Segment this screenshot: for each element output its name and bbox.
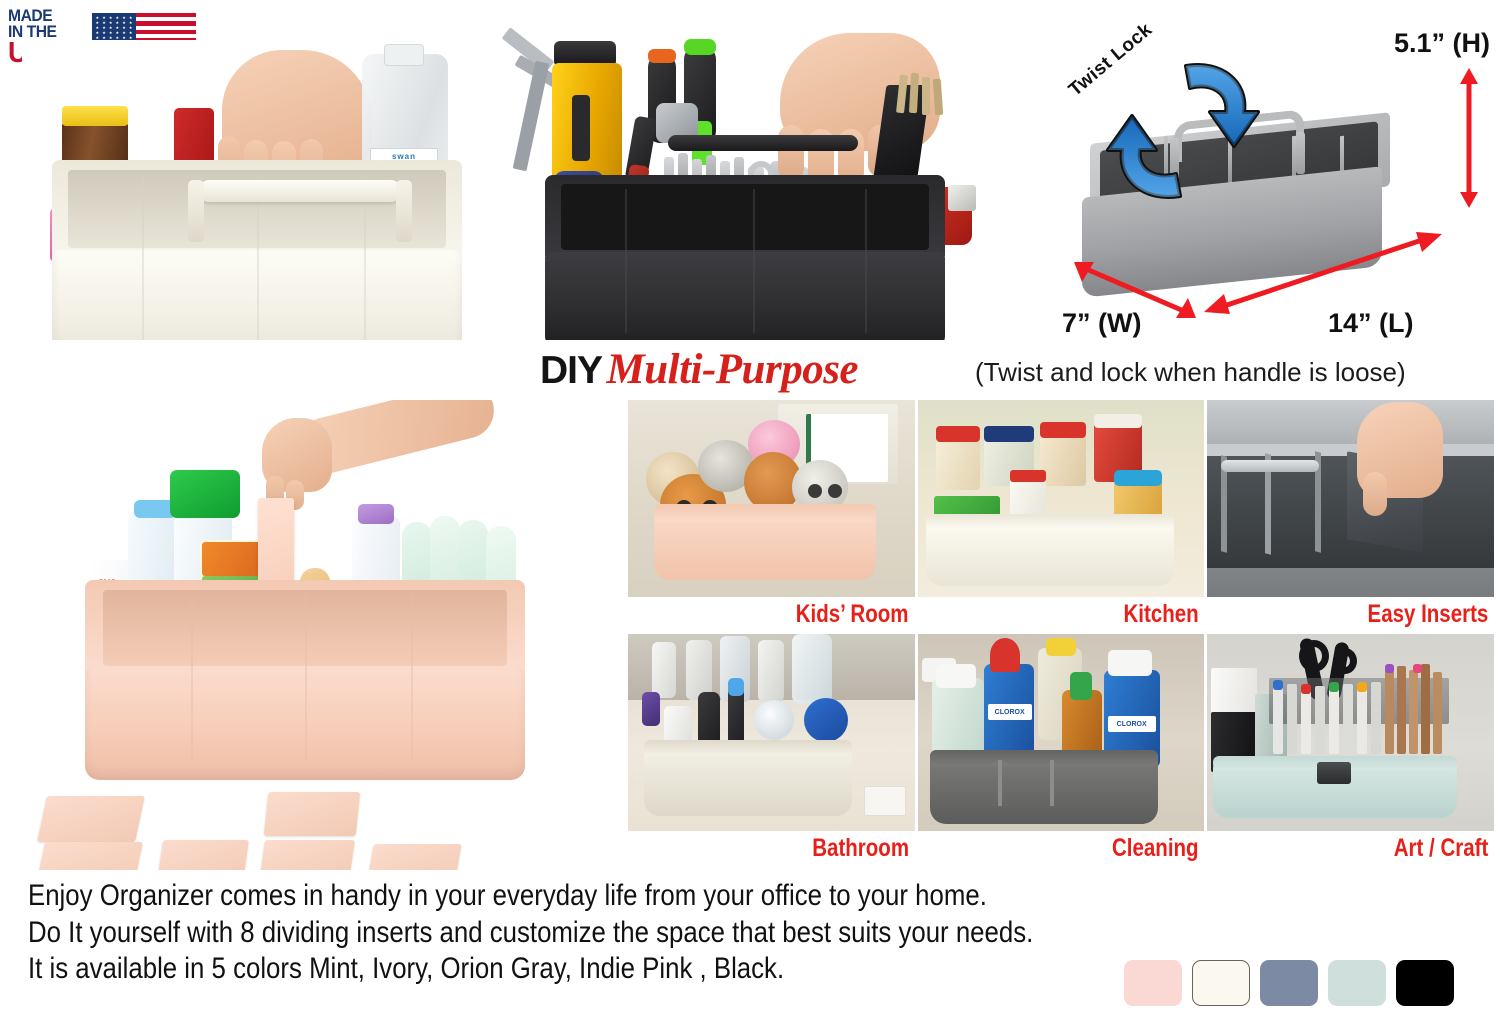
pencil xyxy=(1385,670,1394,754)
diy-label: DIY xyxy=(540,349,602,392)
caption-kitchen: Kitchen xyxy=(1123,600,1198,629)
handle-latch xyxy=(1317,762,1351,784)
toiletry-bottle xyxy=(758,640,784,702)
use-case-cleaning: CLOROX CLOROX Cleaning xyxy=(918,634,1205,865)
diy-heading: DIY Multi-Purpose xyxy=(540,345,858,394)
toiletry-bottle xyxy=(652,642,676,698)
divider-insert xyxy=(259,840,355,870)
description-line-1: Enjoy Organizer comes in handy in your e… xyxy=(28,878,965,915)
spice-jar xyxy=(1040,430,1086,486)
height-label: 5.1” (H) xyxy=(1394,28,1490,59)
use-case-grid: Kids’ Room Kitchen xyxy=(628,400,1494,865)
use-case-kitchen: Kitchen xyxy=(918,400,1205,631)
black-caddy xyxy=(545,175,945,340)
caption-easy-inserts: Easy Inserts xyxy=(1367,600,1488,629)
floss-container xyxy=(754,700,794,740)
caption-art-craft: Art / Craft xyxy=(1393,834,1488,863)
caption-bathroom: Bathroom xyxy=(812,834,909,863)
product-description: Enjoy Organizer comes in handy in your e… xyxy=(28,878,1118,988)
swatch-mint xyxy=(1328,960,1386,1006)
dimensions-diagram: Twist Lock 5.1” (H) 7” (W) 14” (L) xyxy=(1060,20,1500,350)
caption-kids-room: Kids’ Room xyxy=(796,600,909,629)
mouthwash-bottle xyxy=(792,634,832,704)
marker xyxy=(1273,686,1283,754)
soap-pump xyxy=(804,698,848,742)
caddy-handle xyxy=(668,135,858,151)
baby-supplies-organizer-photo: ♥CVS health Baby Powder xyxy=(30,400,600,870)
caddy xyxy=(644,746,852,816)
caddy-handle xyxy=(200,180,400,202)
swatch-ivory xyxy=(1192,960,1250,1006)
bottle-cap xyxy=(62,106,128,126)
use-case-easy-inserts: Easy Inserts xyxy=(1207,400,1494,631)
use-case-bathroom: Bathroom xyxy=(628,634,915,865)
swatch-black xyxy=(1396,960,1454,1006)
divider-insert xyxy=(157,840,249,870)
swatch-orion-gray xyxy=(1260,960,1318,1006)
toiletry-bottle xyxy=(686,640,712,700)
caption-cleaning: Cleaning xyxy=(1112,834,1199,863)
spice-jar xyxy=(936,434,980,490)
description-line-3: It is available in 5 colors Mint, Ivory,… xyxy=(28,951,965,988)
width-arrow-icon xyxy=(1070,256,1200,324)
length-arrow-icon xyxy=(1200,220,1450,320)
use-case-art-craft: Art / Craft xyxy=(1207,634,1494,865)
multi-purpose-label: Multi-Purpose xyxy=(606,346,858,393)
pink-caddy xyxy=(85,580,525,780)
tool-organizer-photo xyxy=(480,25,1000,340)
use-case-kids-room: Kids’ Room xyxy=(628,400,915,631)
medicine-organizer-photo: Nature Made swan 70% Isopropyl Alcohol B… xyxy=(22,40,492,340)
divider-insert xyxy=(864,786,906,816)
divider-insert xyxy=(35,842,143,870)
description-line-2: Do It yourself with 8 dividing inserts a… xyxy=(28,915,965,952)
height-arrow-icon xyxy=(1458,68,1480,208)
divider-insert xyxy=(264,792,361,836)
handle xyxy=(1221,460,1319,472)
divider-insert xyxy=(366,844,461,870)
color-swatches xyxy=(1124,960,1454,1006)
divider-insert xyxy=(37,796,145,842)
infographic-canvas: MADE IN THE USA ★★★★★★ ★★★★★★ ★★★★★★ xyxy=(0,0,1500,1010)
swatch-indie-pink xyxy=(1124,960,1182,1006)
twist-lock-arrow-up-icon xyxy=(1068,78,1248,228)
twist-and-lock-note: (Twist and lock when handle is loose) xyxy=(975,357,1406,388)
caddy xyxy=(930,756,1158,824)
